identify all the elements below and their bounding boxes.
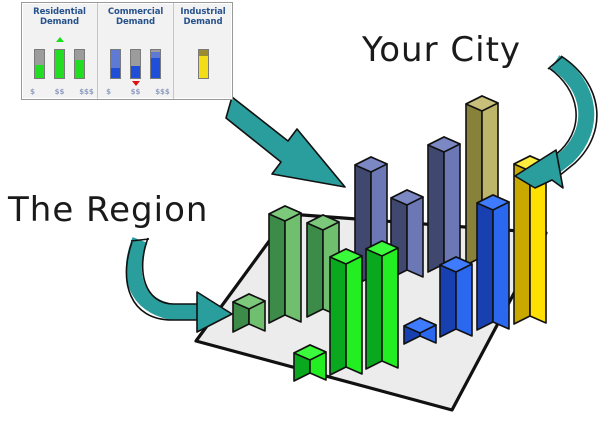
rci-column-commercial[interactable]: Commercial Demand: [98, 3, 174, 99]
bar-region-res-2: [269, 206, 301, 323]
rci-bar-ind-1: [198, 43, 209, 79]
rci-bars-residential: [22, 39, 97, 79]
rci-fill-com-2: [131, 66, 140, 78]
rci-bars-industrial: [174, 39, 232, 79]
rci-fill-res-1: [35, 65, 44, 78]
label-your-city: Your City: [362, 30, 521, 70]
arrow-to-city-bars: [515, 56, 597, 188]
rci-title-residential: Residential Demand: [33, 7, 86, 27]
rci-title-industrial: Industrial Demand: [180, 7, 225, 27]
rci-legend-res-1: $: [23, 88, 43, 96]
rci-bar-res-1: [34, 43, 45, 79]
bar-city-res-3: [366, 241, 398, 369]
rci-legend-com-3: $$$: [153, 88, 173, 96]
rci-legend-commercial: $ $$ $$$: [98, 88, 173, 96]
rci-meter-res-1: [34, 49, 45, 79]
rci-bar-com-3: [150, 43, 161, 79]
label-the-region: The Region: [8, 190, 208, 230]
rci-title-commercial: Commercial Demand: [108, 7, 163, 27]
bar-city-res-1: [294, 345, 326, 381]
rci-fill-com-1: [111, 68, 120, 78]
rci-bar-com-2: [130, 43, 141, 79]
arrow-to-rci-panel: [226, 97, 345, 187]
rci-bar-res-2: [54, 43, 65, 79]
bar-city-res-2: [330, 249, 362, 375]
demand-down-triangle-icon: [132, 81, 140, 86]
scene-root: Residential Demand: [0, 0, 600, 423]
rci-legend-res-2: $$: [50, 88, 70, 96]
arrow-to-region-bars: [126, 238, 232, 332]
rci-fill-com-3: [151, 58, 160, 78]
rci-fill-res-3: [75, 60, 84, 78]
rci-column-residential[interactable]: Residential Demand: [22, 3, 98, 99]
rci-meter-res-2: [54, 49, 65, 79]
rci-legend-residential: $ $$ $$$: [22, 88, 97, 96]
rci-column-industrial[interactable]: Industrial Demand: [174, 3, 232, 99]
rci-fill-res-2: [55, 50, 64, 78]
bar-city-com-2: [440, 257, 472, 337]
rci-demand-panel[interactable]: Residential Demand: [21, 2, 233, 100]
rci-bar-com-1: [110, 43, 121, 79]
rci-fill-ind-1: [199, 56, 208, 78]
rci-legend-res-3: $$$: [77, 88, 97, 96]
rci-meter-com-2: [130, 49, 141, 79]
rci-legend-com-2: $$: [126, 88, 146, 96]
rci-bar-res-3: [74, 43, 85, 79]
rci-legend-com-1: $: [99, 88, 119, 96]
rci-meter-com-3: [150, 49, 161, 79]
rci-meter-res-3: [74, 49, 85, 79]
rci-meter-ind-1: [198, 49, 209, 79]
demand-up-triangle-icon: [56, 37, 64, 42]
bar-city-com-3: [477, 195, 509, 330]
rci-meter-com-1: [110, 49, 121, 79]
rci-bars-commercial: [98, 39, 173, 79]
bar-region-com-3: [428, 137, 460, 272]
